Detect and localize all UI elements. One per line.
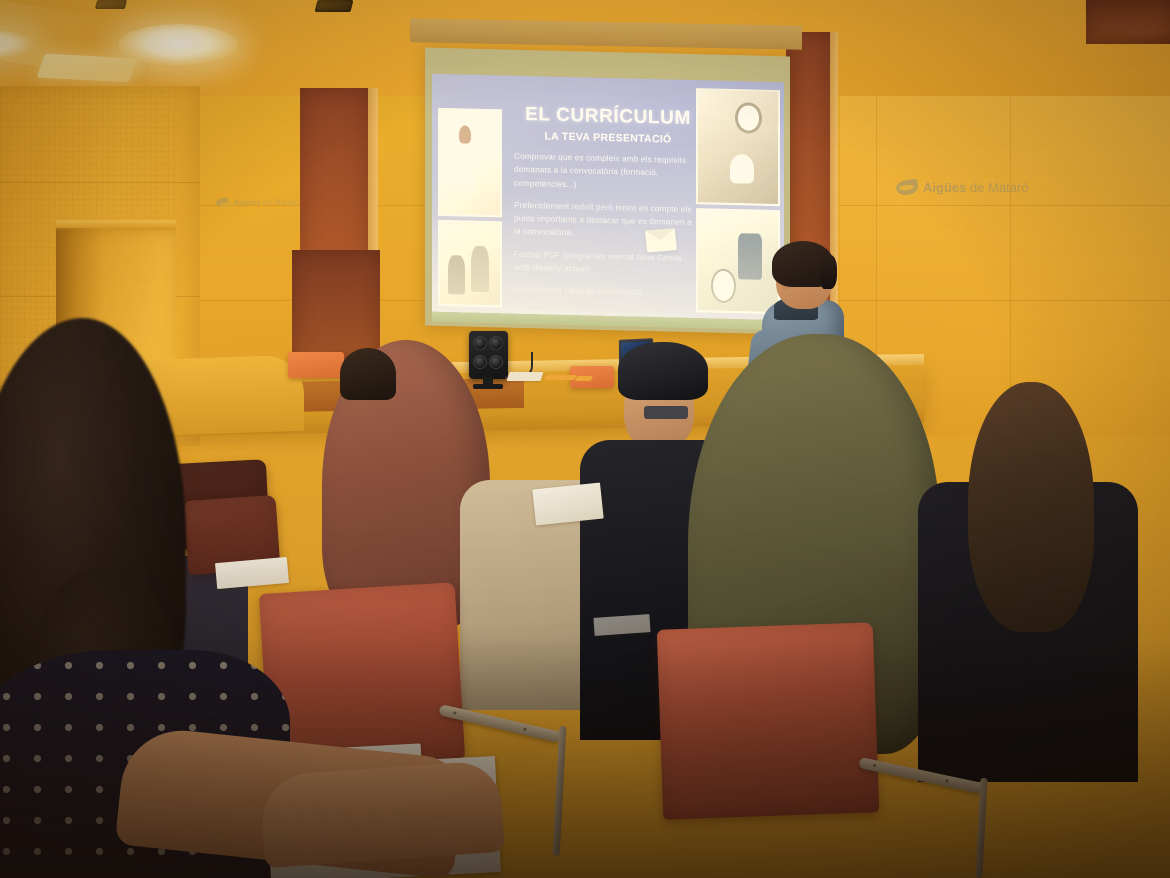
chair-back-front-right[interactable] <box>657 622 879 819</box>
orange-clips <box>545 375 578 380</box>
logo-text-right: Aigües de Mataró <box>923 180 1029 195</box>
chair-leg-front-left <box>553 726 567 856</box>
square-panel-light <box>37 54 138 83</box>
attendee-dark-hair-man <box>340 348 396 400</box>
hair <box>968 382 1094 632</box>
orange-chair-far-left <box>288 352 344 378</box>
wall-logo-right: Aigües de Mataró <box>896 180 1029 195</box>
paper-on-tablet-mid <box>215 557 289 589</box>
wall-vseam-2 <box>876 96 877 396</box>
ceiling-vent-2 <box>95 0 127 9</box>
slide-bullet-3: Format PDF (programes mercat tipus Canva… <box>514 247 700 278</box>
envelope-icon <box>645 228 677 252</box>
service-scooter-photo <box>696 208 780 314</box>
cap <box>618 342 708 400</box>
forearm-right <box>259 760 505 869</box>
paper-stack-center <box>532 483 603 526</box>
desk-papers <box>507 372 544 381</box>
projection-screen: EL CURRÍCULUM LA TEVA PRESENTACIÓ Compro… <box>425 48 790 335</box>
auditorium-photo: Aigües de Mataró Aigües de Mataró EL CUR… <box>0 0 1170 878</box>
wall-logo-left: Aigües de Mataró <box>216 198 299 207</box>
wall-vseam <box>1010 96 1011 396</box>
presentation-slide: EL CURRÍCULUM LA TEVA PRESENTACIÓ Compro… <box>432 74 784 321</box>
top-right-pillar <box>1086 0 1170 44</box>
logo-text-left: Aigües de Mataró <box>234 198 299 207</box>
ceiling-vent <box>315 0 354 12</box>
water-drop-icon <box>895 179 919 197</box>
workshop-photo <box>438 220 502 308</box>
slide-bullet-4: Recomanem carta de presentació <box>514 283 700 301</box>
slide-bullet-1: Comprovar que es compleix amb els requis… <box>514 150 700 194</box>
water-drop-icon-small <box>215 197 229 208</box>
cap-strap <box>644 406 688 419</box>
speaker-array <box>469 331 508 379</box>
